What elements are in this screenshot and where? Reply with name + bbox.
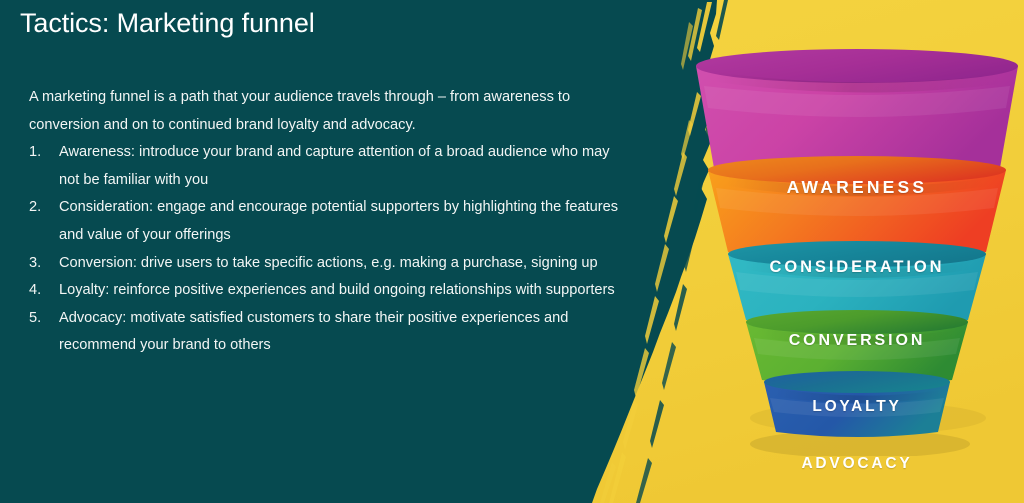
slide-canvas: Tactics: Marketing funnel A marketing fu… xyxy=(0,0,1024,503)
page-title: Tactics: Marketing funnel xyxy=(20,7,620,41)
list-item: Awareness: introduce your brand and capt… xyxy=(29,139,625,194)
list-item: Conversion: drive users to take specific… xyxy=(29,250,625,278)
list-item: Loyalty: reinforce positive experiences … xyxy=(29,277,625,305)
list-item: Consideration: engage and encourage pote… xyxy=(29,194,625,249)
intro-paragraph: A marketing funnel is a path that your a… xyxy=(29,84,625,139)
list-item: Advocacy: motivate satisfied customers t… xyxy=(29,305,625,360)
marketing-funnel-diagram: AWARENESS CONSIDERATION CONVERSION LOYAL… xyxy=(690,46,1024,456)
body-copy: A marketing funnel is a path that your a… xyxy=(29,84,625,360)
funnel-stage-advocacy xyxy=(764,371,950,437)
funnel-label-advocacy: ADVOCACY xyxy=(690,455,1024,473)
funnel-stage-list: Awareness: introduce your brand and capt… xyxy=(29,139,625,360)
